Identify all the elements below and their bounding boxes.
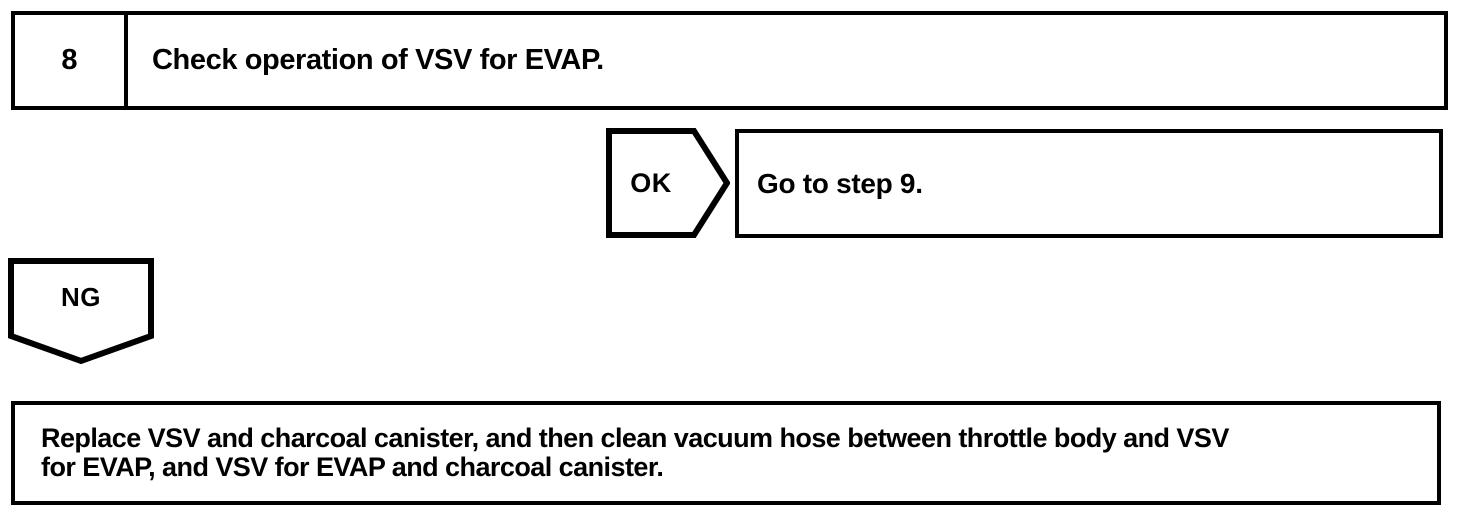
step-number-cell: 8: [15, 15, 128, 106]
step-header-box: 8 Check operation of VSV for EVAP.: [11, 11, 1448, 110]
ng-result-box: Replace VSV and charcoal canister, and t…: [11, 401, 1441, 505]
ok-result-box: Go to step 9.: [735, 129, 1443, 238]
ng-result-line-1: Replace VSV and charcoal canister, and t…: [41, 424, 1423, 453]
ng-branch-label: NG: [8, 258, 154, 336]
step-number-text: 8: [61, 44, 77, 77]
ok-branch-arrow: OK: [606, 128, 730, 238]
flowchart-page: 8 Check operation of VSV for EVAP. OK Go…: [0, 0, 1472, 518]
ng-result-line-2: for EVAP, and VSV for EVAP and charcoal …: [41, 453, 1423, 482]
ng-branch-marker: NG: [8, 258, 154, 366]
step-title-cell: Check operation of VSV for EVAP.: [132, 15, 1444, 106]
ok-result-text: Go to step 9.: [757, 168, 923, 200]
ok-branch-label: OK: [606, 128, 696, 238]
step-title-text: Check operation of VSV for EVAP.: [152, 44, 604, 77]
